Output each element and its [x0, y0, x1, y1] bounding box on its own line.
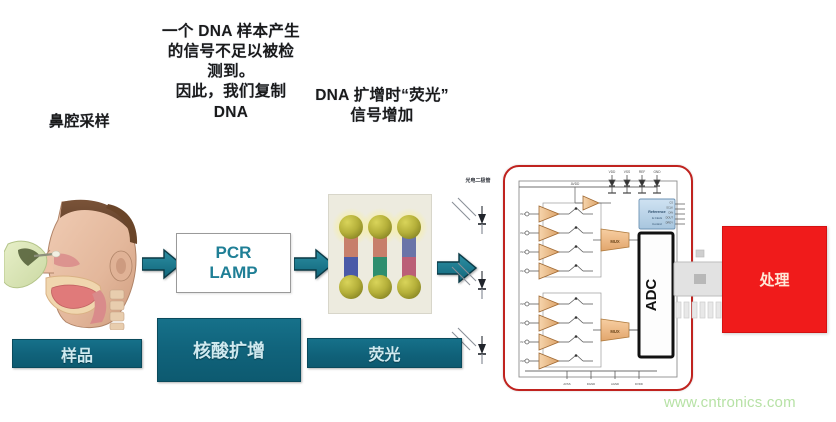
reference-block-label: Reference	[648, 210, 665, 214]
slide-canvas: 鼻腔采样 一个 DNA 样本产生 的信号不足以被检 测到。 因此，我们复制 DN…	[0, 0, 836, 422]
svg-text:& Clock: & Clock	[652, 216, 663, 220]
mux-top-label: MUX	[610, 239, 620, 244]
svg-text:DRDY: DRDY	[666, 221, 674, 225]
svg-text:IN2: IN2	[520, 231, 525, 235]
svg-text:DOUT: DOUT	[666, 216, 674, 220]
stage-box-sample: 样品	[12, 339, 142, 368]
svg-text:AVSS: AVSS	[563, 382, 570, 386]
callout-amplification-line-1: DNA 扩增时“荧光”	[312, 86, 452, 106]
stage-box-nucleic-acid-amplification: 核酸扩增	[157, 318, 301, 382]
callout-dna-signal-line-2: 的信号不足以被检	[138, 42, 324, 62]
svg-text:DVDD: DVDD	[635, 382, 643, 386]
svg-text:REF: REF	[639, 170, 645, 174]
svg-text:CS: CS	[669, 201, 673, 205]
label-nasal-sampling: 鼻腔采样	[22, 112, 137, 132]
callout-amplification: DNA 扩增时“荧光” 信号增加	[312, 86, 452, 126]
lamp-label: LAMP	[209, 263, 257, 283]
svg-text:IN3: IN3	[520, 250, 525, 254]
svg-text:AVDD: AVDD	[571, 182, 580, 186]
svg-text:IN1: IN1	[520, 212, 525, 216]
adc-label: ADC	[643, 279, 660, 312]
svg-text:VSS: VSS	[624, 170, 630, 174]
mux-bottom-label: MUX	[610, 329, 620, 334]
callout-dna-signal-line-1: 一个 DNA 样本产生	[138, 22, 324, 42]
callout-amplification-line-2: 信号增加	[312, 106, 452, 126]
svg-text:DGND: DGND	[587, 382, 595, 386]
svg-text:IN4: IN4	[520, 269, 525, 273]
nasal-swab-illustration	[4, 194, 162, 330]
callout-dna-signal-line-5: DNA	[138, 103, 324, 123]
fluorescence-sample-image	[328, 194, 432, 314]
svg-text:SCLK: SCLK	[666, 206, 673, 210]
afe-circuit-svg: VDDVSS REFGND	[505, 167, 691, 389]
stage-box-processing: 处理	[722, 226, 827, 333]
svg-text:Control: Control	[652, 222, 662, 226]
svg-text:VDD: VDD	[609, 170, 616, 174]
svg-text:IN8: IN8	[520, 359, 525, 363]
svg-text:AGND: AGND	[611, 382, 619, 386]
svg-text:IN5: IN5	[520, 302, 525, 306]
svg-text:IN6: IN6	[520, 321, 525, 325]
afe-circuit-diagram: VDDVSS REFGND	[503, 165, 693, 391]
stage-box-fluorescence: 荧光	[307, 338, 462, 368]
pcr-lamp-box: PCR LAMP	[176, 233, 291, 293]
watermark: www.cntronics.com	[664, 394, 796, 411]
svg-text:DIN: DIN	[669, 211, 674, 215]
callout-dna-signal-line-3: 测到。	[138, 62, 324, 82]
svg-text:GND: GND	[653, 170, 661, 174]
pcr-label: PCR	[216, 243, 252, 263]
callout-dna-signal-line-4: 因此，我们复制	[138, 82, 324, 102]
svg-text:IN7: IN7	[520, 340, 525, 344]
callout-dna-signal: 一个 DNA 样本产生 的信号不足以被检 测到。 因此，我们复制 DNA	[138, 22, 324, 123]
